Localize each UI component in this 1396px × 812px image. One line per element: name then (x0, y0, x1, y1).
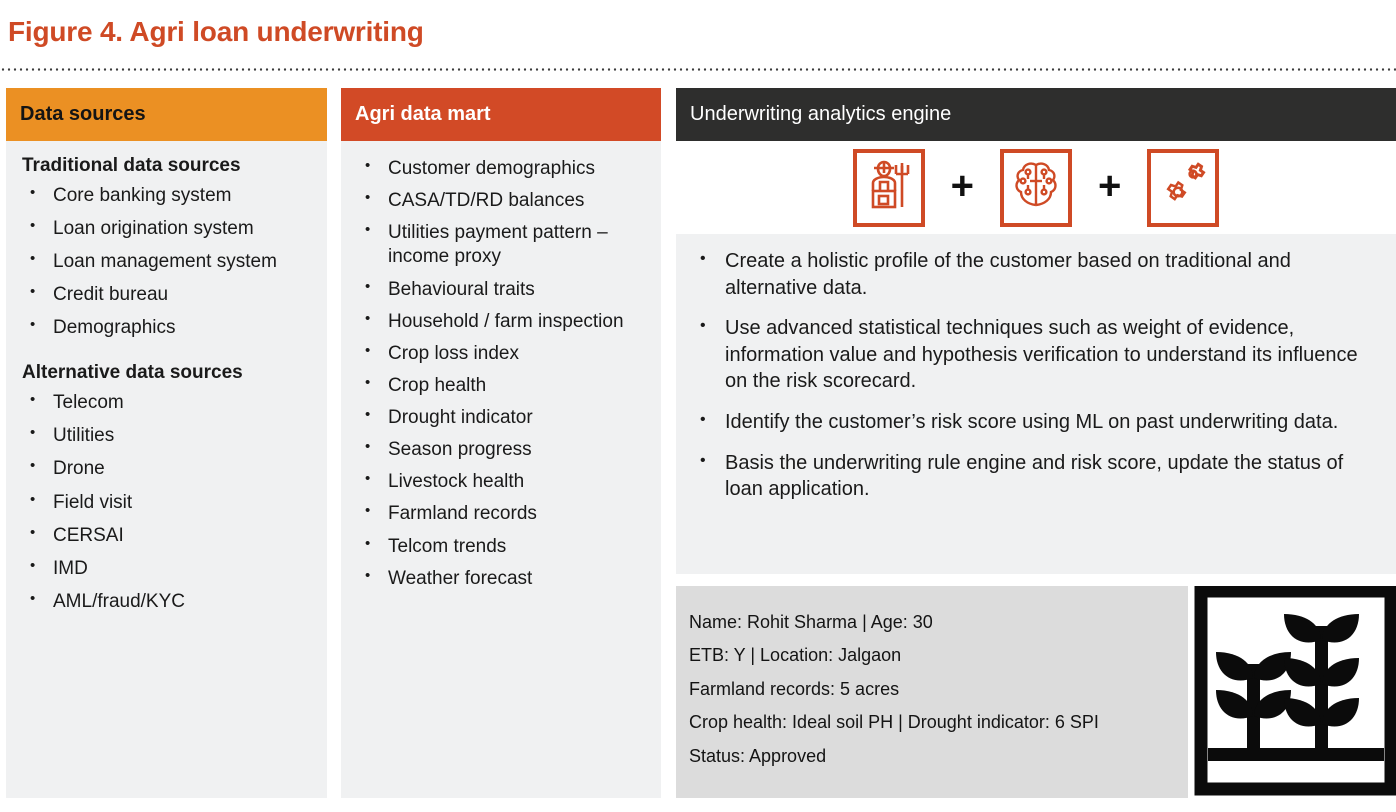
list-engine-capabilities: Create a holistic profile of the custome… (684, 248, 1382, 503)
list-item: Utilities payment pattern – income proxy (355, 221, 651, 269)
brain-ai-icon (1012, 159, 1060, 216)
panel-body-agri-data-mart: Customer demographics CASA/TD/RD balance… (341, 141, 661, 798)
group-heading-traditional: Traditional data sources (22, 155, 315, 178)
list-item: Farmland records (355, 502, 651, 526)
list-item: Crop loss index (355, 342, 651, 366)
farmer-icon-tile (853, 149, 925, 227)
panel-underwriting-engine: Underwriting analytics engine + (676, 88, 1396, 798)
list-item: Loan management system (20, 250, 315, 274)
crops-field-icon-tile (1188, 586, 1396, 798)
gears-icon-tile (1147, 149, 1219, 227)
panel-header-underwriting-engine: Underwriting analytics engine (676, 88, 1396, 141)
engine-icon-row: + + (676, 141, 1396, 234)
customer-name-age: Name: Rohit Sharma | Age: 30 (689, 606, 1188, 639)
list-item: Behavioural traits (355, 278, 651, 302)
customer-status: Status: Approved (689, 740, 1188, 773)
farmer-icon (865, 159, 913, 216)
list-alternative-data-sources: Telecom Utilities Drone Field visit CERS… (20, 391, 315, 614)
list-agri-data-mart: Customer demographics CASA/TD/RD balance… (355, 157, 651, 591)
page-title: Figure 4. Agri loan underwriting (8, 16, 424, 48)
group-heading-alternative: Alternative data sources (22, 362, 315, 385)
list-item: Livestock health (355, 470, 651, 494)
plus-separator-2: + (1098, 166, 1121, 206)
list-item: CASA/TD/RD balances (355, 189, 651, 213)
panel-agri-data-mart: Agri data mart Customer demographics CAS… (341, 88, 661, 798)
list-item: Use advanced statistical techniques such… (684, 315, 1382, 395)
list-item: Weather forecast (355, 567, 651, 591)
list-item: Telcom trends (355, 535, 651, 559)
panel-data-sources: Data sources Traditional data sources Co… (6, 88, 327, 798)
customer-summary-card: Name: Rohit Sharma | Age: 30 ETB: Y | Lo… (676, 586, 1188, 798)
list-item: Customer demographics (355, 157, 651, 181)
crops-field-icon (1192, 586, 1396, 803)
engine-info-row: Name: Rohit Sharma | Age: 30 ETB: Y | Lo… (676, 586, 1396, 798)
list-traditional-data-sources: Core banking system Loan origination sys… (20, 184, 315, 341)
list-item: Crop health (355, 374, 651, 398)
customer-farmland-records: Farmland records: 5 acres (689, 673, 1188, 706)
list-item: Demographics (20, 316, 315, 340)
title-divider (0, 68, 1396, 71)
panel-header-data-sources: Data sources (6, 88, 327, 141)
list-item: Credit bureau (20, 283, 315, 307)
list-item: Loan origination system (20, 217, 315, 241)
panel-header-agri-data-mart: Agri data mart (341, 88, 661, 141)
list-item: Identify the customer’s risk score using… (684, 409, 1382, 436)
list-item: Field visit (20, 491, 315, 515)
list-item: Basis the underwriting rule engine and r… (684, 450, 1382, 503)
list-item: IMD (20, 557, 315, 581)
list-item: Telecom (20, 391, 315, 415)
list-item: Utilities (20, 424, 315, 448)
list-item: Drone (20, 457, 315, 481)
plus-separator-1: + (951, 166, 974, 206)
list-item: Drought indicator (355, 406, 651, 430)
list-item: Season progress (355, 438, 651, 462)
gears-icon (1159, 159, 1207, 216)
customer-crop-health-drought: Crop health: Ideal soil PH | Drought ind… (689, 706, 1188, 739)
customer-etb-location: ETB: Y | Location: Jalgaon (689, 639, 1188, 672)
list-item: CERSAI (20, 524, 315, 548)
panel-body-data-sources: Traditional data sources Core banking sy… (6, 141, 327, 798)
engine-description-box: Create a holistic profile of the custome… (676, 234, 1396, 574)
brain-ai-icon-tile (1000, 149, 1072, 227)
list-item: AML/fraud/KYC (20, 590, 315, 614)
list-item: Core banking system (20, 184, 315, 208)
list-item: Create a holistic profile of the custome… (684, 248, 1382, 301)
list-item: Household / farm inspection (355, 310, 651, 334)
